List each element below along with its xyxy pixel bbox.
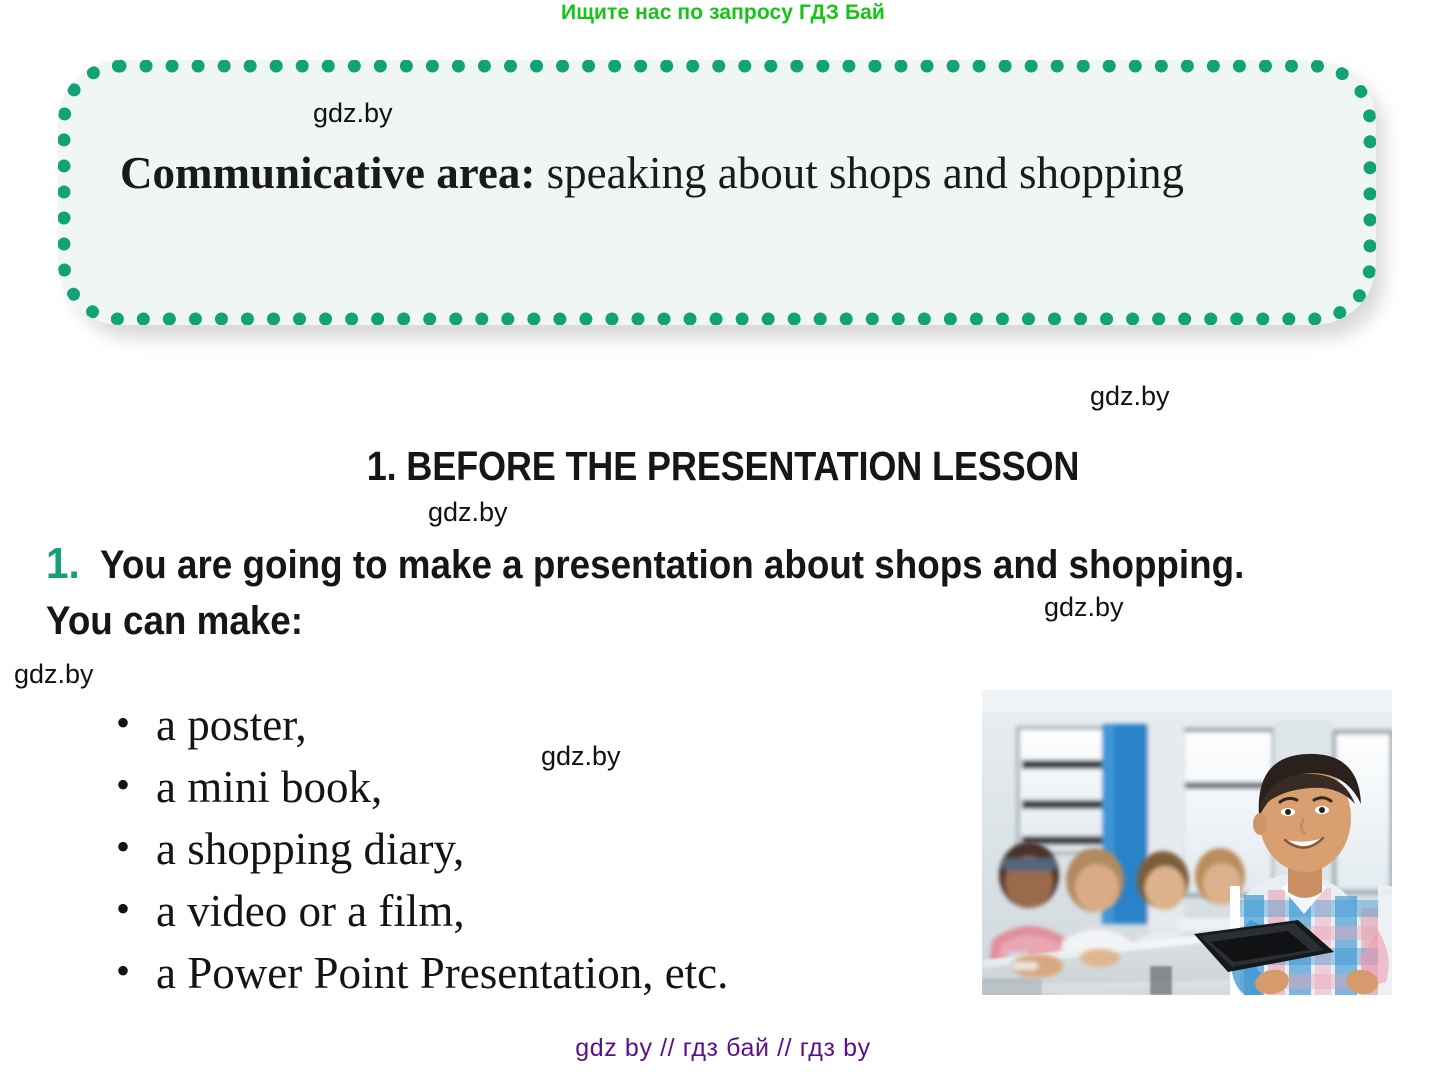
watermark-gdz-1: gdz.by: [313, 98, 393, 128]
footer-credit: gdz by // гдз бай // гдз by: [0, 1033, 1446, 1063]
list-item: a poster,: [112, 694, 728, 756]
communicative-area-callout: Communicative area: speaking about shops…: [50, 55, 1390, 340]
watermark-gdz-2: gdz.by: [1090, 381, 1170, 411]
list-item: a shopping diary,: [112, 818, 728, 880]
promo-banner: Ищите нас по запросу ГДЗ Бай: [0, 0, 1446, 26]
list-item: a Power Point Presentation, etc.: [112, 942, 728, 1004]
classroom-photo: [982, 690, 1392, 995]
watermark-gdz-4: gdz.by: [1044, 592, 1124, 622]
callout-body-label: speaking about shops and shopping: [535, 148, 1184, 198]
watermark-gdz-5: gdz.by: [14, 659, 94, 689]
section-heading: 1. BEFORE THE PRESENTATION LESSON: [87, 443, 1359, 489]
task-number-label: 1.: [46, 539, 80, 588]
presentation-options-list: a poster, a mini book, a shopping diary,…: [112, 694, 728, 1004]
list-item: a video or a film,: [112, 880, 728, 942]
watermark-gdz-3: gdz.by: [428, 497, 508, 527]
callout-lead-label: Communicative area:: [120, 148, 535, 198]
callout-text: Communicative area: speaking about shops…: [120, 143, 1350, 203]
watermark-gdz-6: gdz.by: [541, 741, 621, 771]
list-item: a mini book,: [112, 756, 728, 818]
